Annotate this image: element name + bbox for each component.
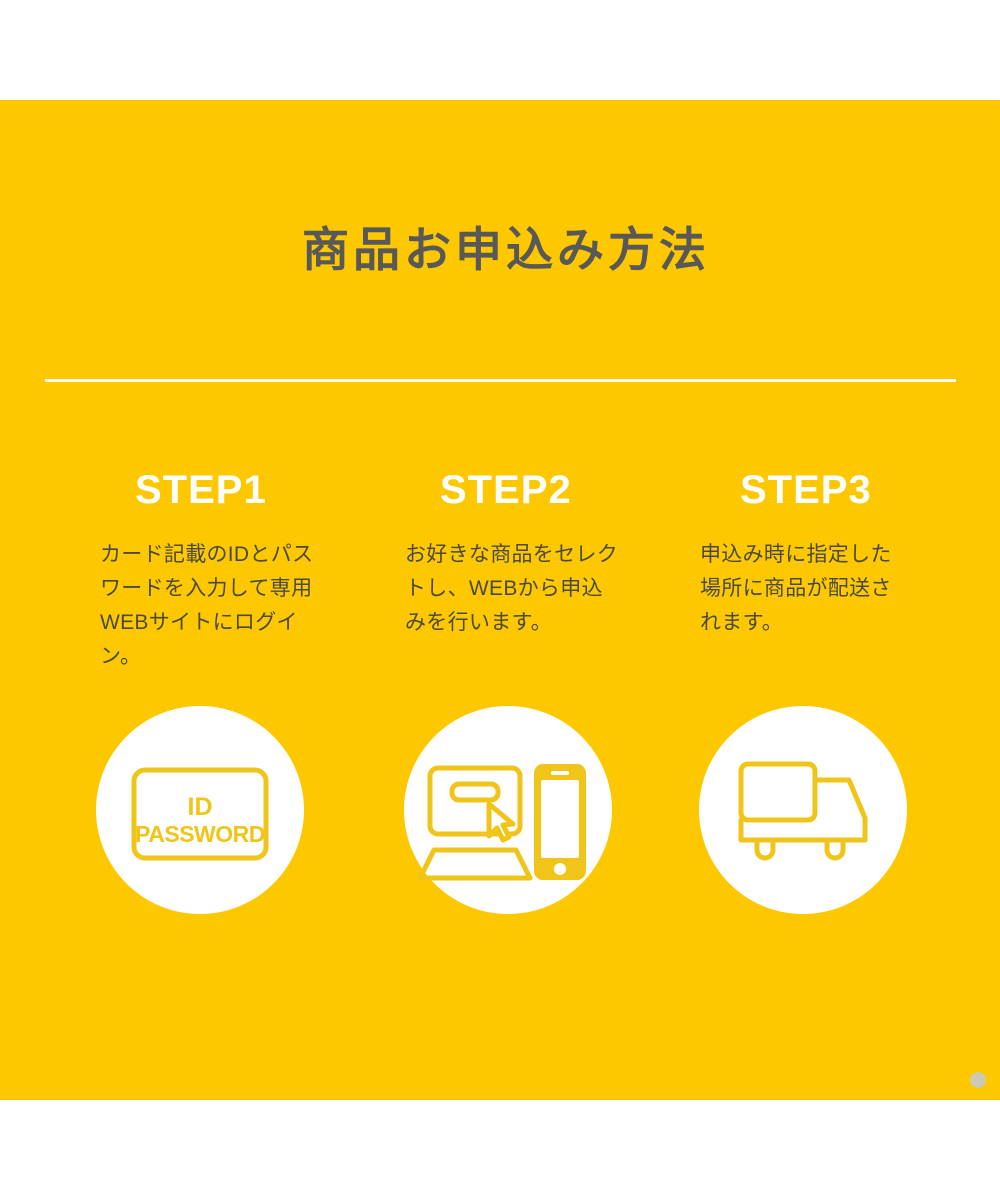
steps-container: STEP1 カード記載のIDとパスワードを入力して専用WEBサイトにログイン。 …: [0, 470, 1000, 940]
corner-dot-marker: [970, 1072, 986, 1088]
step-1-heading: STEP1: [135, 470, 267, 510]
page-title: 商品お申込み方法: [302, 224, 710, 276]
title-divider: [45, 379, 956, 382]
password-label: PASSWORD: [135, 821, 265, 847]
delivery-truck-icon: [699, 706, 907, 914]
step-1-description: カード記載のIDとパスワードを入力して専用WEBサイトにログイン。: [100, 538, 315, 674]
step-2-icon-circle: [404, 706, 612, 914]
step-1-icon-circle: ID PASSWORD: [96, 706, 304, 914]
step-2-heading: STEP2: [440, 470, 572, 510]
step-3-icon-circle: [699, 706, 907, 914]
laptop-and-smartphone-icon: [404, 706, 612, 914]
step-3-heading: STEP3: [740, 470, 872, 510]
id-password-card-icon: ID PASSWORD: [96, 706, 304, 914]
page-root: 商品お申込み方法 STEP1 カード記載のIDとパスワードを入力して専用WEBサ…: [0, 0, 1000, 1200]
id-label: ID: [188, 793, 213, 821]
step-2-description: お好きな商品をセレクトし、WEBから申込みを行います。: [405, 538, 621, 640]
step-3-description: 申込み時に指定した場所に商品が配送されます。: [700, 538, 912, 640]
